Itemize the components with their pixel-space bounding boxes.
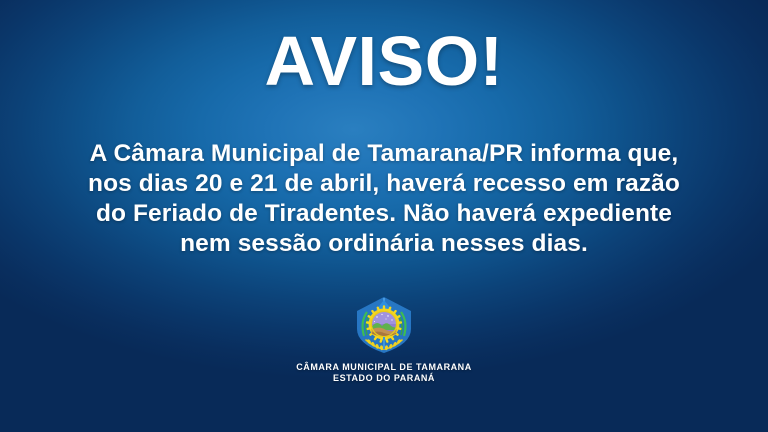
announcement-slide: AVISO! A Câmara Municipal de Tamarana/PR… [0, 0, 768, 432]
headline-container: AVISO! [0, 26, 768, 96]
body-line-1: A Câmara Municipal de Tamarana/PR inform… [34, 139, 734, 169]
emblem-container [0, 296, 768, 354]
coat-of-arms-icon [353, 296, 415, 354]
footer-organization: CÂMARA MUNICIPAL DE TAMARANA [0, 362, 768, 373]
announcement-body: A Câmara Municipal de Tamarana/PR inform… [34, 139, 734, 259]
body-line-3: do Feriado de Tiradentes. Não haverá exp… [34, 199, 734, 229]
footer-container: CÂMARA MUNICIPAL DE TAMARANA ESTADO DO P… [0, 362, 768, 384]
body-line-2: nos dias 20 e 21 de abril, haverá recess… [34, 169, 734, 199]
body-line-4: nem sessão ordinária nesses dias. [34, 229, 734, 259]
footer-state: ESTADO DO PARANÁ [0, 373, 768, 384]
page-title: AVISO! [265, 26, 504, 96]
